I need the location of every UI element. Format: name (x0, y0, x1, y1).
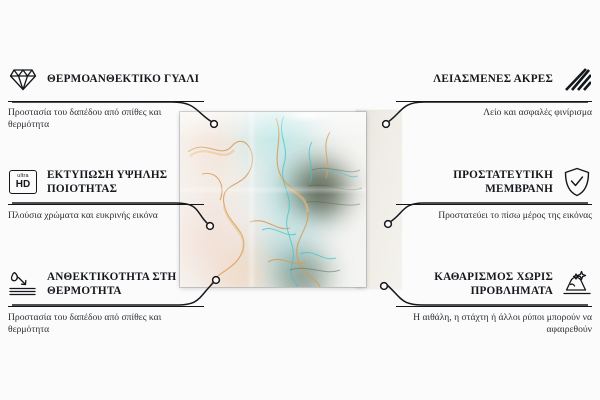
feature-protective-membrane: ΠΡΟΣΤΑΤΕΥΤΙΚΗ ΜΕΜΒΡΑΝΗ Προστατεύει το πί… (396, 165, 592, 222)
feature-title: ΚΑΘΑΡΙΣΜΟΣ ΧΩΡΙΣ ΠΡΟΒΛΗΜΑΤΑ (396, 270, 553, 298)
feature-header: ΚΑΘΑΡΙΣΜΟΣ ΧΩΡΙΣ ΠΡΟΒΛΗΜΑΤΑ (396, 267, 592, 301)
ultra-hd-icon: ultra HD (8, 167, 38, 197)
feature-title: ΠΡΟΣΤΑΤΕΥΤΙΚΗ ΜΕΜΒΡΑΝΗ (396, 168, 553, 196)
feature-header: ΘΕΡΜΟΑΝΘΕΚΤΙΚΟ ΓΥΑΛΙ (8, 62, 204, 96)
feature-header: ΑΝΘΕΚΤΙΚΟΤΗΤΑ ΣΤΗ ΘΕΡΜΟΤΗΤΑ (8, 267, 204, 301)
product-image (180, 112, 402, 287)
gold-veins (180, 112, 366, 287)
divider (8, 204, 204, 205)
diamond-icon (8, 64, 38, 94)
feature-easy-cleaning: ΚΑΘΑΡΙΣΜΟΣ ΧΩΡΙΣ ΠΡΟΒΛΗΜΑΤΑ Η αιθάλη, η … (396, 267, 592, 337)
shield-check-icon (562, 167, 592, 197)
feature-description: Προστατεύει το πίσω μέρος της εικόνας (396, 210, 592, 222)
divider (396, 204, 592, 205)
feature-header: ΛΕΙΑΣΜΕΝΕΣ ΑΚΡΕΣ (396, 62, 592, 96)
ultra-hd-main-label: HD (16, 180, 30, 190)
feature-title: ΕΚΤΥΠΩΣΗ ΥΨΗΛΗΣ ΠΟΙΟΤΗΤΑΣ (47, 168, 204, 196)
divider (396, 101, 592, 102)
feature-title: ΛΕΙΑΣΜΕΝΕΣ ΑΚΡΕΣ (433, 72, 553, 86)
feature-high-quality-print: ultra HD ΕΚΤΥΠΩΣΗ ΥΨΗΛΗΣ ΠΟΙΟΤΗΤΑΣ Πλούσ… (8, 165, 204, 222)
feature-polished-edges: ΛΕΙΑΣΜΕΝΕΣ ΑΚΡΕΣ Λείο και ασφαλές φινίρι… (396, 62, 592, 119)
divider (396, 306, 592, 307)
glass-splashback (180, 112, 366, 287)
heat-resistant-icon (8, 269, 38, 299)
divider (8, 306, 204, 307)
feature-description: Η αιθάλη, η στάχτη ή άλλοι ρύποι μπορούν… (396, 312, 592, 337)
feature-title: ΘΕΡΜΟΑΝΘΕΚΤΙΚΟ ΓΥΑΛΙ (47, 72, 199, 86)
divider (8, 101, 204, 102)
feature-description: Πλούσια χρώματα και ευκρινής εικόνα (8, 210, 204, 222)
easy-clean-icon (562, 269, 592, 299)
polished-edges-icon (562, 64, 592, 94)
feature-description: Λείο και ασφαλές φινίρισμα (396, 107, 592, 119)
feature-title: ΑΝΘΕΚΤΙΚΟΤΗΤΑ ΣΤΗ ΘΕΡΜΟΤΗΤΑ (47, 270, 204, 298)
feature-header: ΠΡΟΣΤΑΤΕΥΤΙΚΗ ΜΕΜΒΡΑΝΗ (396, 165, 592, 199)
feature-header: ultra HD ΕΚΤΥΠΩΣΗ ΥΨΗΛΗΣ ΠΟΙΟΤΗΤΑΣ (8, 165, 204, 199)
marble-artwork (180, 112, 366, 287)
feature-heat-resistant-glass: ΘΕΡΜΟΑΝΘΕΚΤΙΚΟ ΓΥΑΛΙ Προστασία του δαπέδ… (8, 62, 204, 132)
feature-description: Προστασία του δαπέδου από σπίθες και θερ… (8, 312, 204, 337)
infographic-canvas: ΘΕΡΜΟΑΝΘΕΚΤΙΚΟ ΓΥΑΛΙ Προστασία του δαπέδ… (0, 0, 600, 400)
feature-description: Προστασία του δαπέδου από σπίθες και θερ… (8, 107, 204, 132)
feature-heat-durability: ΑΝΘΕΚΤΙΚΟΤΗΤΑ ΣΤΗ ΘΕΡΜΟΤΗΤΑ Προστασία το… (8, 267, 204, 337)
